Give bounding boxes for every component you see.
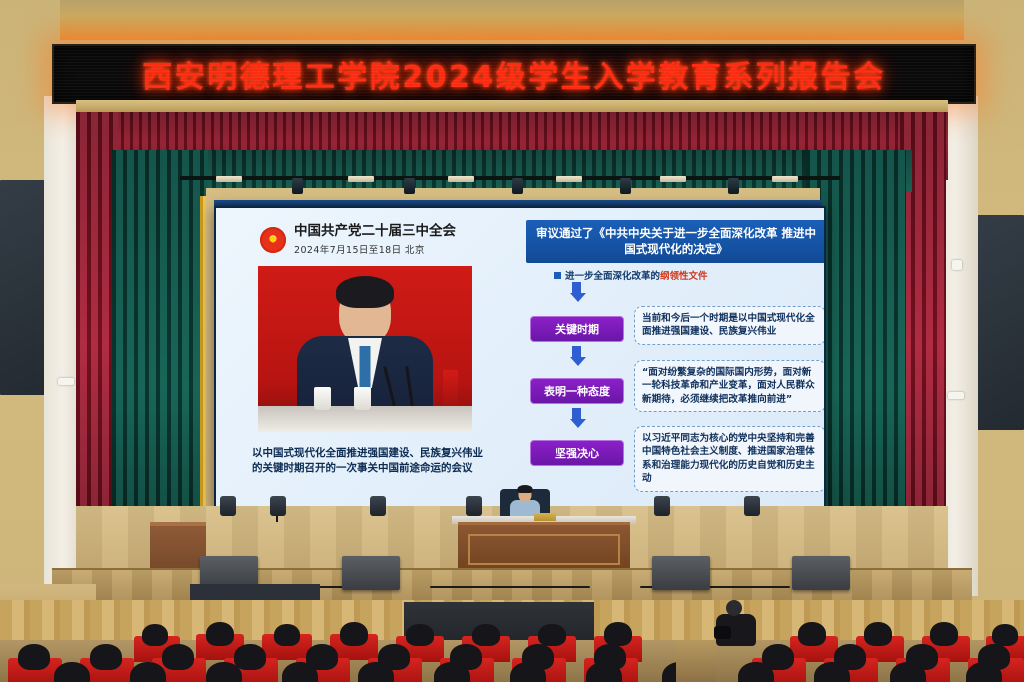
slide: 中国共产党二十届三中全会 2024年7月15日至18日 北京 [216,208,824,508]
audience-head-10 [864,622,892,646]
badge-attitude: 表明一种态度 [530,378,624,404]
meeting-heading: 中国共产党二十届三中全会 2024年7月15日至18日 北京 [260,224,456,256]
decision-subtitle-plain: 进一步全面深化改革的 [565,271,660,282]
stage-monitor-2 [342,556,400,590]
led-banner: 西安明德理工学院2024级学生入学教育系列报告会 [52,44,976,104]
audience-head-5 [406,624,434,646]
audience-head-33 [586,662,622,682]
note-key-period: 当前和今后一个时期是以中国式现代化全面推进强国建设、民族复兴伟业 [634,306,824,345]
lighting-truss [180,176,840,180]
audience-head-13 [18,644,50,670]
down-arrow-icon-3 [570,408,583,428]
audience-head-36 [814,662,850,682]
audience-head-2 [206,622,234,646]
photo-teacup-1 [314,387,331,410]
badge-key-period: 关键时期 [530,316,624,342]
audience-head-11 [930,622,958,646]
down-arrow-icon-1 [570,282,583,302]
photo-teacup-2 [354,387,371,410]
audience-head-27 [130,662,166,682]
slide-caption: 以中国式现代化全面推进强国建设、民族复兴伟业的关键时期召开的一次事关中国前途命运… [252,446,484,476]
audience-head-31 [434,662,470,682]
stage-mic-6 [220,496,236,516]
stage-monitor-4 [792,556,850,590]
audience-head-37 [890,662,926,682]
meeting-photo [258,266,472,432]
stage-light-4 [620,178,631,194]
meeting-date: 2024年7月15日至18日 北京 [294,242,456,256]
badge-determination: 坚强决心 [530,440,624,466]
speaker-nameplate [534,513,556,521]
stage-light-bar-2 [348,176,374,182]
stage-light-2 [404,178,415,194]
audience-head-29 [282,662,318,682]
note-attitude: “面对纷繁复杂的国际国内形势，面对新一轮科技革命和产业变革，面对人民群众新期待，… [634,360,824,412]
audience-head-30 [358,662,394,682]
bullet-square-icon [554,272,561,279]
stage-mic-5 [744,496,760,516]
decision-subtitle: 进一步全面深化改革的纲领性文件 [554,268,708,282]
proscenium-header [76,100,948,112]
stage-light-5 [728,178,739,194]
center-aisle [676,640,716,682]
stage-light-bar-3 [448,176,474,182]
projection-screen: 中国共产党二十届三中全会 2024年7月15日至18日 北京 [214,206,826,510]
photo-speaker-hair [336,276,394,308]
national-emblem-icon [260,227,286,253]
decision-subtitle-highlight: 纲领性文件 [660,271,708,282]
wall-socket-right [948,392,964,399]
audience-head-4 [340,622,368,646]
speaker-hair [518,485,533,493]
auditorium-scene: 西安明德理工学院2024级学生入学教育系列报告会 中国共产党二十届三中全会 20… [0,0,1024,682]
stage-light-3 [512,178,523,194]
photo-speaker-tie [360,346,371,390]
led-banner-text: 西安明德理工学院2024级学生入学教育系列报告会 [142,52,886,96]
audience-head-3 [274,624,300,646]
audience-head-9 [798,622,826,646]
slide-right-panel: 审议通过了《中共中央关于进一步全面深化改革 推进中国式现代化的决定》 进一步全面… [516,208,824,508]
audience-head-26 [54,662,90,682]
audience-head-14 [90,644,122,670]
stage-mic-2 [370,496,386,516]
stage-light-bar-6 [772,176,798,182]
audience-head-28 [206,662,242,682]
slide-left-panel: 中国共产党二十届三中全会 2024年7月15日至18日 北京 [216,208,516,508]
audience-head-6 [472,624,500,646]
audience-head-8 [604,622,632,646]
stage-light-1 [292,178,303,194]
audience-head-35 [738,662,774,682]
wall-fixture-right [952,260,962,270]
stage-mic-4 [654,496,670,516]
stage-monitor-3 [652,556,710,590]
photo-flag [443,370,458,406]
audience-head-15 [162,644,194,670]
camera-icon [714,626,731,639]
down-arrow-icon-2 [570,346,583,366]
photographer-head [726,600,742,616]
audience-head-12 [992,624,1018,646]
audience-head-32 [510,662,546,682]
speaker-table [458,522,630,573]
note-determination: 以习近平同志为核心的党中央坚持和完善中国特色社会主义制度、推进国家治理体系和治理… [634,426,824,492]
decision-title: 审议通过了《中共中央关于进一步全面深化改革 推进中国式现代化的决定》 [526,220,824,263]
stage-light-bar-4 [556,176,582,182]
photographer [714,600,760,652]
audience-head-38 [966,662,1002,682]
stage-mic-3 [466,496,482,516]
stage-light-bar-5 [660,176,686,182]
audience-head-1 [142,624,168,646]
auditorium-seating [0,600,1024,682]
audience-head-7 [538,624,566,646]
stage-light-bar-1 [216,176,242,182]
stage-mic-1 [270,496,286,516]
audio-cable-2 [430,586,590,588]
wall-socket-left [58,378,74,385]
audience-head-16 [234,644,266,670]
meeting-title: 中国共产党二十届三中全会 [294,224,456,240]
